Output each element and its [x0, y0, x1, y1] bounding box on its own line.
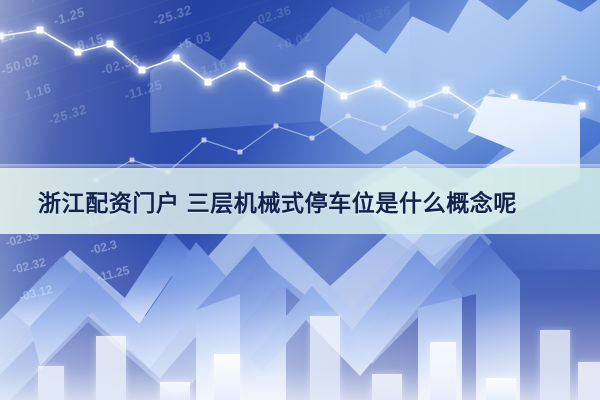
bar-chart-column [486, 378, 516, 400]
bar-chart-column [38, 366, 64, 400]
bar-chart-column [160, 382, 190, 400]
bar-chart-column [540, 330, 570, 400]
bar-chart-column [430, 342, 456, 400]
bar-chart-column [578, 362, 600, 400]
bar-chart-column [372, 374, 402, 400]
bar-chart-column [214, 354, 240, 400]
bar-chart-column [310, 316, 340, 400]
stock-market-banner: +0.02-02.36-11.25-02.36+5.03-02.36+0.02-… [0, 0, 600, 400]
page-title: 浙江配资门户 三层机械式停车位是什么概念呢 [0, 168, 600, 234]
bar-chart-column [96, 336, 126, 400]
